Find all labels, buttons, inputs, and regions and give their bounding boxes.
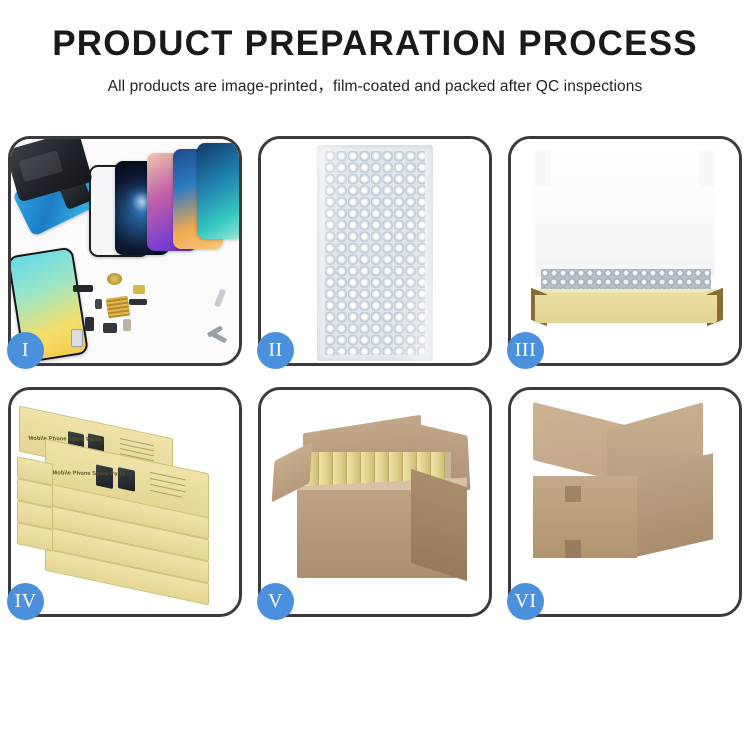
carton-tape-seam-top <box>565 486 581 502</box>
box-lid-white <box>535 151 715 277</box>
carton-side-panel <box>411 469 467 581</box>
page-title: PRODUCT PREPARATION PROCESS <box>0 26 750 63</box>
spare-part-6 <box>123 319 131 331</box>
box-lid-left-flap <box>535 151 551 187</box>
process-step-card-4[interactable]: Mobile Phone Spare Parts Mobile Phone Sp… <box>8 387 242 617</box>
sealed-carton-side <box>637 453 713 557</box>
bubble-wrap-sleeve <box>317 145 433 361</box>
step-badge-1: I <box>7 332 44 369</box>
process-step-card-3[interactable]: III <box>508 136 742 366</box>
spare-part-9 <box>214 289 226 308</box>
step-badge-6: VI <box>507 583 544 620</box>
step-4-image: Mobile Phone Spare Parts Mobile Phone Sp… <box>11 390 239 614</box>
box-lid-right-flap <box>699 151 715 187</box>
page-header: PRODUCT PREPARATION PROCESS All products… <box>0 0 750 96</box>
step-badge-4: IV <box>7 583 44 620</box>
page-subtitle: All products are image-printed，film-coat… <box>0 74 750 96</box>
step-badge-5: V <box>257 583 294 620</box>
spare-part-10 <box>95 299 102 309</box>
spare-part-1 <box>73 285 93 292</box>
step-2-image <box>261 139 489 363</box>
process-step-grid: I II III Mobile <box>8 136 742 617</box>
process-step-card-6[interactable]: VI <box>508 387 742 617</box>
process-step-card-5[interactable]: V <box>258 387 492 617</box>
box-front-panel <box>535 295 717 323</box>
step-3-image <box>511 139 739 363</box>
step-6-image <box>511 390 739 614</box>
spare-part-3 <box>133 285 145 294</box>
sealed-carton-front <box>533 476 637 558</box>
connector-chip <box>106 296 131 319</box>
box-label-text: Mobile Phone Spare Parts <box>52 470 126 477</box>
spare-part-4 <box>85 317 94 331</box>
carton-tape-seam-bottom <box>565 540 581 558</box>
process-step-card-1[interactable]: I <box>8 136 242 366</box>
spare-part-2 <box>107 273 122 285</box>
step-1-image <box>11 139 239 363</box>
box-spec-line <box>150 490 182 498</box>
spare-part-7 <box>71 329 83 347</box>
step-5-image <box>261 390 489 614</box>
spare-part-8 <box>129 299 147 305</box>
box-stack: Mobile Phone Spare Parts Mobile Phone Sp… <box>13 404 239 604</box>
spare-screw-2 <box>211 332 227 344</box>
step-badge-2: II <box>257 332 294 369</box>
spare-part-5 <box>103 323 117 333</box>
phone-teal <box>197 143 239 239</box>
step-badge-3: III <box>507 332 544 369</box>
process-step-card-2[interactable]: II <box>258 136 492 366</box>
